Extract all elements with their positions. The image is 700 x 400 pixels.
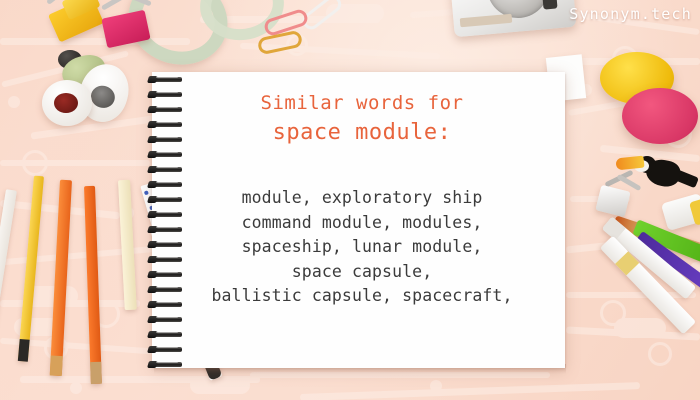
- synonym-line: command module, modules,: [176, 211, 548, 236]
- page-title-line1: Similar words for: [176, 90, 548, 116]
- spiral-ring: [146, 316, 184, 323]
- white-stone-red-dot-icon: [42, 80, 92, 126]
- synonyms-list: module, exploratory shipcommand module, …: [176, 186, 548, 309]
- site-logo: Synonym.tech: [569, 5, 692, 23]
- pink-macaron-icon: [622, 88, 698, 144]
- spiral-ring: [146, 361, 184, 368]
- synonym-line: module, exploratory ship: [176, 186, 548, 211]
- synonym-line: space capsule,: [176, 260, 548, 285]
- page-content: Similar words for space module: module, …: [176, 90, 548, 309]
- screenshot-root: Similar words for space module: module, …: [0, 0, 700, 400]
- spiral-ring: [146, 346, 184, 353]
- synonym-line: ballistic capsule, spacecraft,: [176, 284, 548, 309]
- page-title-line2: space module:: [176, 118, 548, 148]
- synonym-line: spaceship, lunar module,: [176, 235, 548, 260]
- camera-button-icon: [542, 0, 557, 10]
- spiral-ring: [146, 331, 184, 338]
- spiral-ring: [146, 76, 184, 83]
